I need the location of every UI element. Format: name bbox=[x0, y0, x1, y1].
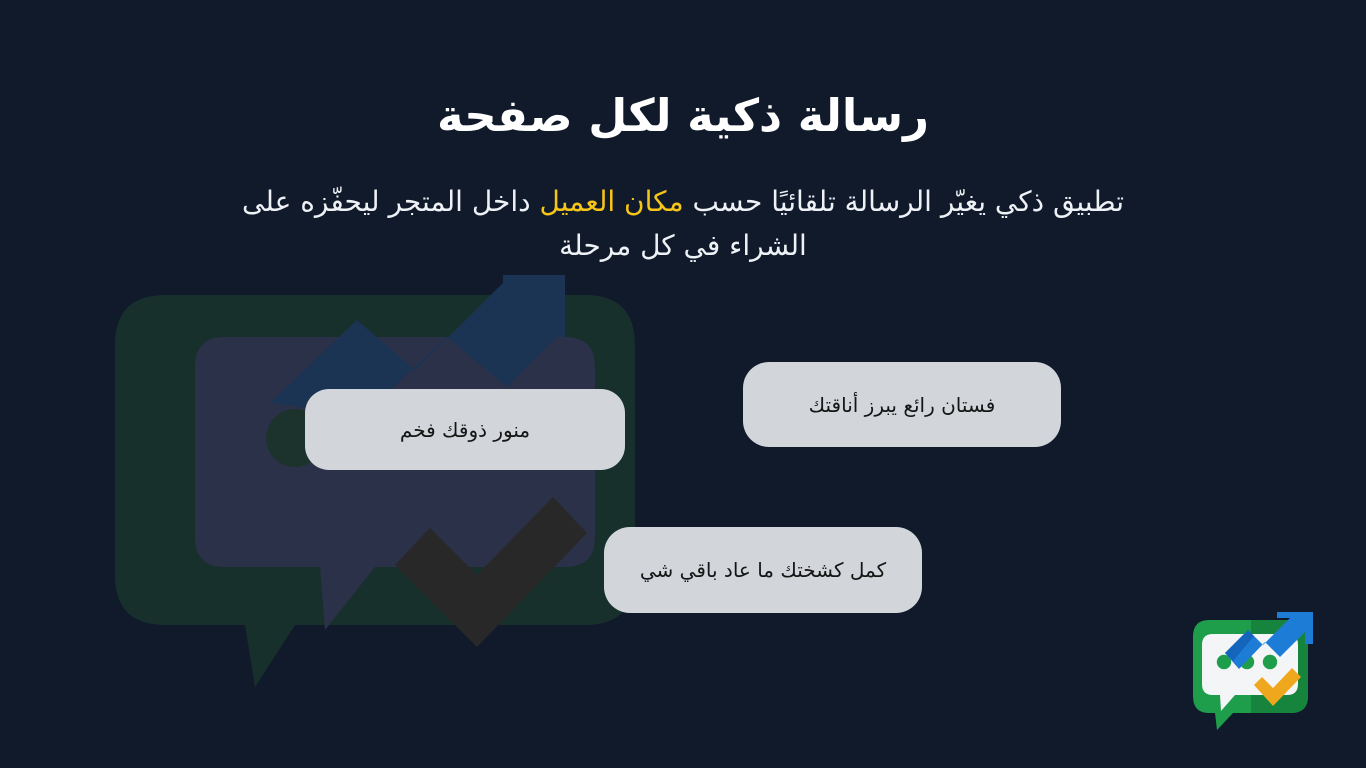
watermark-speech-bubble-icon bbox=[115, 295, 635, 687]
chat-bubble-3-label: كمل كشختك ما عاد باقي شي bbox=[640, 558, 886, 582]
chat-bubble-2[interactable]: فستان رائع يبرز أناقتك bbox=[743, 362, 1061, 447]
subtitle-text-before: تطبيق ذكي يغيّر الرسالة تلقائيًا حسب bbox=[684, 185, 1124, 218]
subtitle-highlight: مكان العميل bbox=[540, 185, 684, 218]
page-title: رسالة ذكية لكل صفحة bbox=[0, 88, 1366, 144]
chat-growth-logo[interactable] bbox=[1191, 612, 1316, 732]
watermark-inner-bubble-icon bbox=[195, 337, 595, 630]
page-subtitle: تطبيق ذكي يغيّر الرسالة تلقائيًا حسب مكا… bbox=[218, 180, 1148, 268]
chat-bubble-3[interactable]: كمل كشختك ما عاد باقي شي bbox=[604, 527, 922, 613]
header-section: رسالة ذكية لكل صفحة تطبيق ذكي يغيّر الرس… bbox=[0, 0, 1366, 269]
background-logo-watermark bbox=[95, 275, 715, 695]
watermark-check-icon bbox=[395, 497, 587, 647]
chat-bubble-1[interactable]: منور ذوقك فخم bbox=[305, 389, 625, 470]
chat-bubble-2-label: فستان رائع يبرز أناقتك bbox=[809, 393, 996, 417]
chat-bubble-1-label: منور ذوقك فخم bbox=[400, 418, 530, 442]
